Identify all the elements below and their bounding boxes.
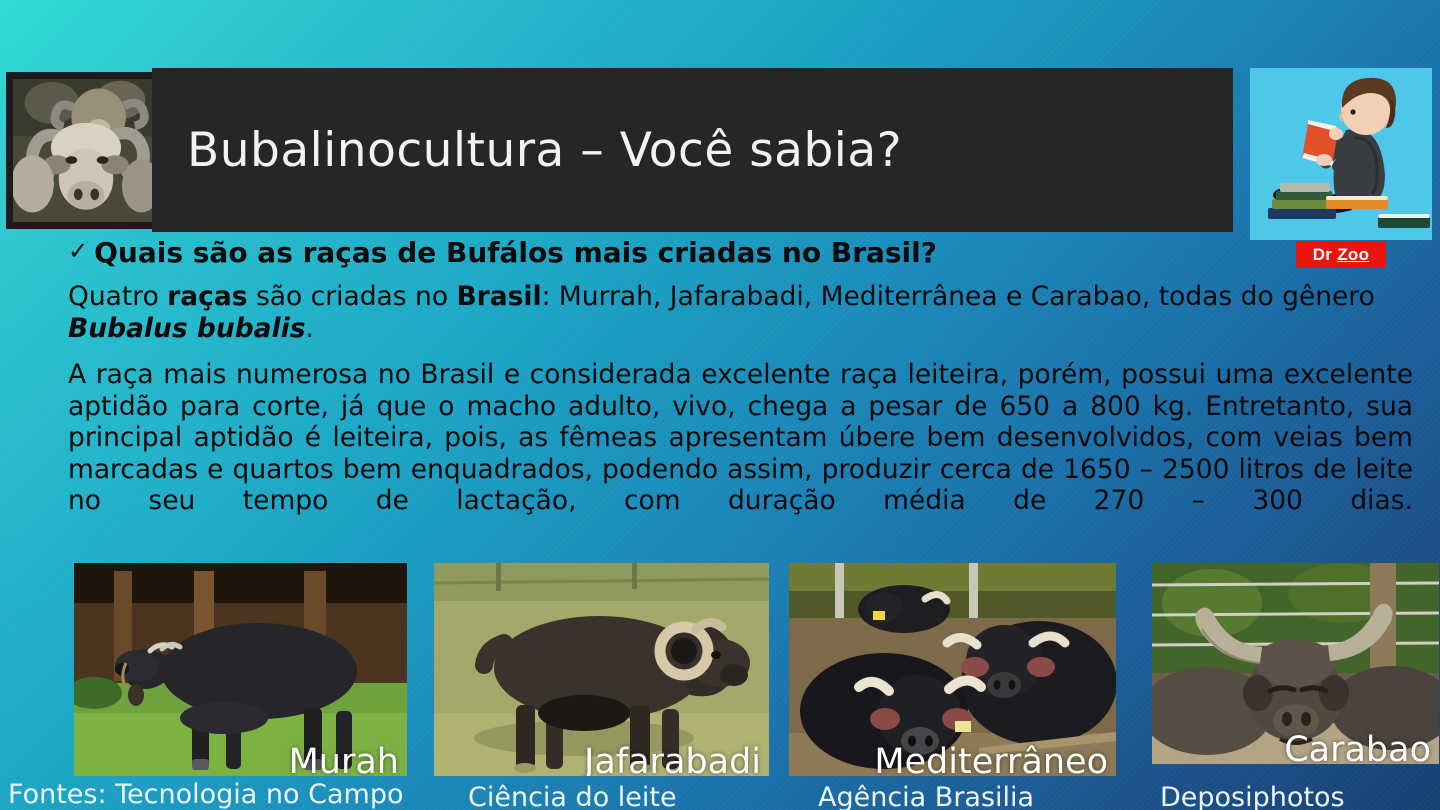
p1-seg1: Quatro	[68, 281, 167, 312]
slide-body: ✓ Quais são as raças de Bufálos mais cri…	[0, 236, 1440, 548]
source-label-jafarabadi: Ciência do leite	[468, 782, 677, 810]
question-text: Quais são as raças de Bufálos mais criad…	[94, 236, 937, 270]
slide-title-bar: Bubalinocultura – Você sabia?	[152, 68, 1233, 232]
p1-italic-species: Bubalus bubalis	[68, 313, 306, 344]
p1-bold-brasil: Brasil	[456, 281, 541, 312]
photo-caption: Carabao	[1284, 730, 1431, 764]
photo-caption: Mediterrâneo	[874, 742, 1108, 776]
title-buffalo-thumbnail	[6, 72, 166, 229]
p1-seg5: : Murrah, Jafarabadi, Mediterrânea e Car…	[542, 281, 1375, 312]
avatar-reading-book-illustration	[1250, 68, 1432, 240]
photo-murrah: Murah	[74, 563, 407, 776]
source-label-carabao: Deposiphotos	[1160, 782, 1345, 810]
checkmark-icon: ✓	[68, 236, 88, 267]
photo-jafarabadi: Jafarabadi	[434, 563, 769, 776]
white-buffalo-photo	[13, 79, 159, 222]
question-line: ✓ Quais são as raças de Bufálos mais cri…	[0, 236, 1440, 270]
photo-caption: Jafarabadi	[584, 742, 761, 776]
p1-seg7: .	[306, 313, 314, 344]
breed-photo-row: Murah	[0, 563, 1440, 785]
paragraph-description: A raça mais numerosa no Brasil e conside…	[0, 359, 1440, 548]
p1-seg3: são criadas no	[248, 281, 457, 312]
p1-bold-racas: raças	[167, 281, 247, 312]
paragraph-breeds: Quatro raças são criadas no Brasil: Murr…	[0, 281, 1440, 344]
photo-carabao: Carabao	[1152, 563, 1439, 764]
page-title: Bubalinocultura – Você sabia?	[152, 123, 902, 178]
source-label-mediterraneo: Agência Brasilia	[818, 782, 1034, 810]
photo-caption: Murah	[289, 742, 399, 776]
photo-mediterraneo: Mediterrâneo	[789, 563, 1116, 776]
source-label-murrah: Fontes: Tecnologia no Campo	[8, 779, 404, 810]
slide-canvas: Bubalinocultura – Você sabia?	[0, 0, 1440, 810]
